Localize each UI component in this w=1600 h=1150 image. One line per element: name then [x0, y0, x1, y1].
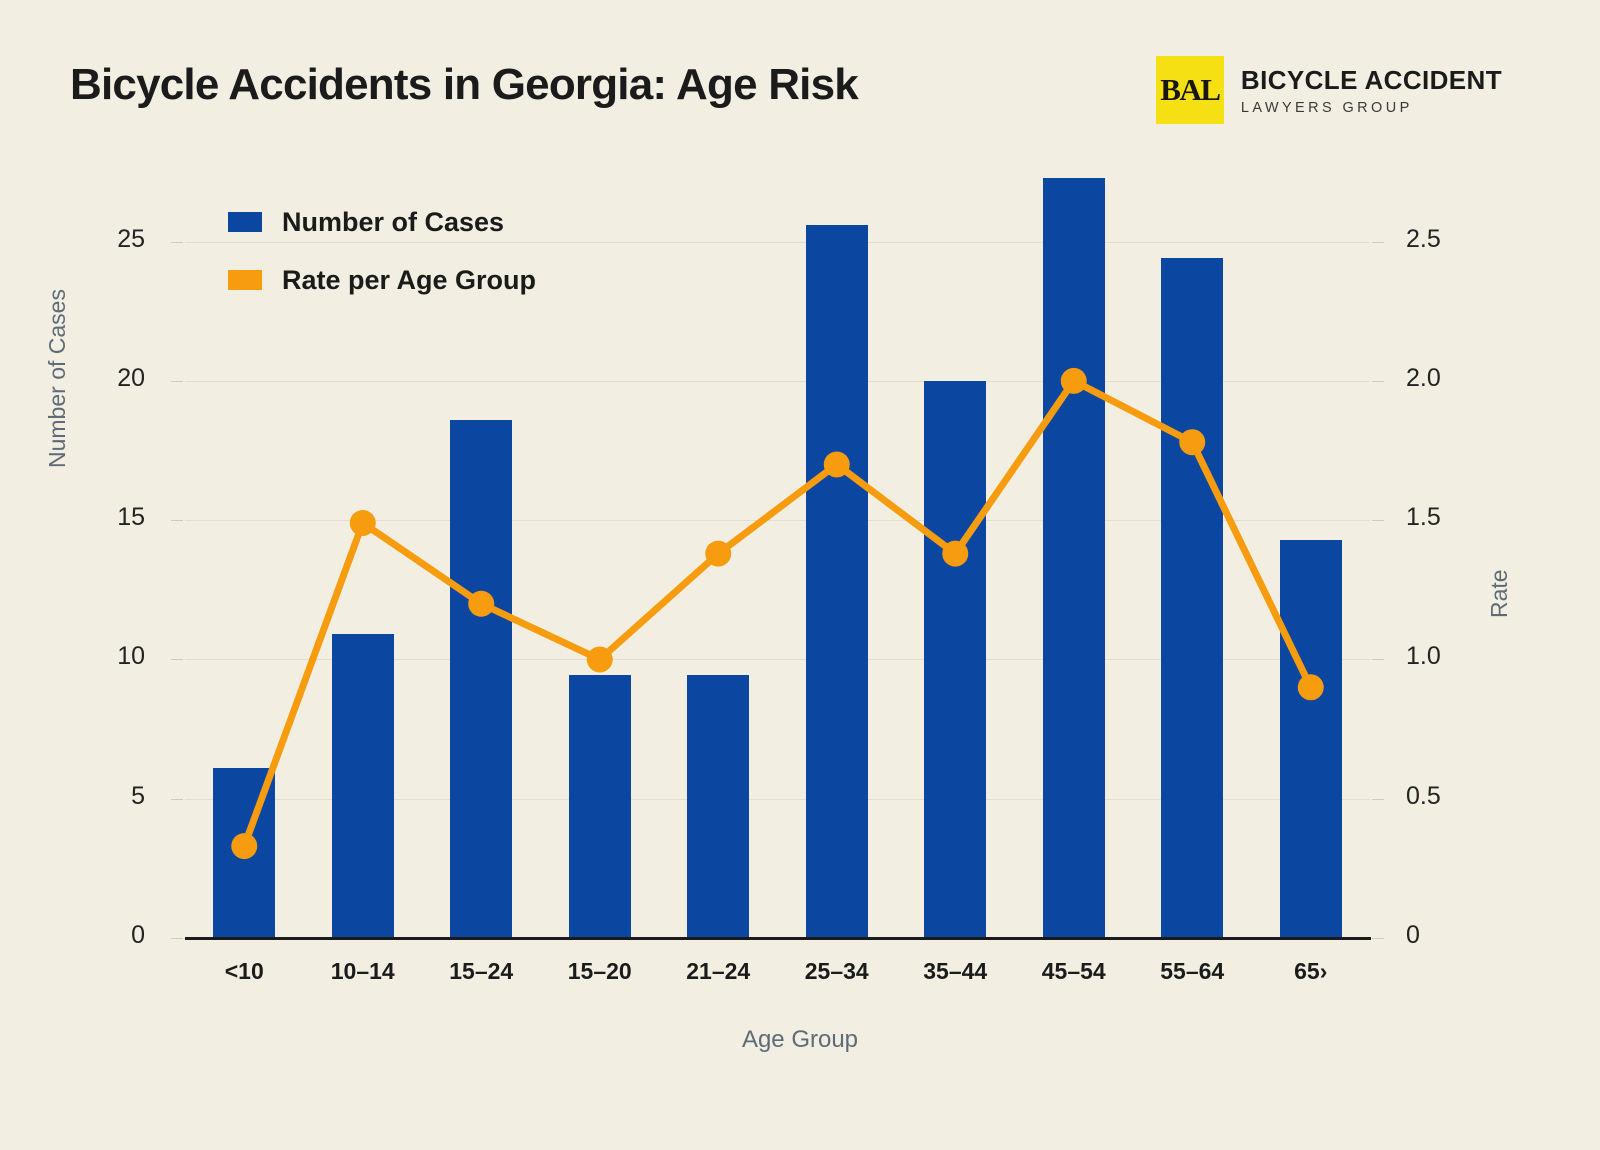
y-axis-right-tick-label: 2.5	[1406, 225, 1476, 254]
rate-line-marker[interactable]: 15–24: 1.2	[468, 591, 494, 617]
y-axis-right-tick-label: 0	[1406, 921, 1476, 950]
rate-line-path	[244, 381, 1311, 846]
x-axis-title: Age Group	[0, 1026, 1600, 1054]
y-axis-right-tick-mark	[1372, 938, 1384, 939]
legend-label-rate: Rate per Age Group	[282, 265, 536, 296]
y-axis-left-tick-mark	[171, 242, 183, 243]
y-axis-right-tick-label: 1.5	[1406, 503, 1476, 532]
y-axis-left-tick-mark	[171, 938, 183, 939]
logo-company-name: BICYCLE ACCIDENT	[1241, 65, 1502, 96]
y-axis-left-tick-label: 15	[85, 503, 145, 532]
legend-label-cases: Number of Cases	[282, 207, 504, 238]
chart-legend: Number of Cases Rate per Age Group	[228, 193, 536, 309]
logo-monogram: BAL	[1156, 72, 1224, 108]
y-axis-left-tick-mark	[171, 381, 183, 382]
x-axis-tick-label: <10	[185, 958, 303, 985]
x-axis-tick-label: 55–64	[1133, 958, 1251, 985]
rate-line-marker[interactable]: 55–64: 1.78	[1179, 429, 1205, 455]
x-axis-tick-label: 65›	[1252, 958, 1370, 985]
page-title: Bicycle Accidents in Georgia: Age Risk	[70, 60, 858, 110]
y-axis-left-tick-label: 5	[85, 782, 145, 811]
y-axis-left-tick-label: 0	[85, 921, 145, 950]
y-axis-left-tick-mark	[171, 799, 183, 800]
x-axis-tick-label: 21–24	[659, 958, 777, 985]
chart-header: Bicycle Accidents in Georgia: Age Risk B…	[0, 0, 1600, 150]
rate-line-marker[interactable]: 21–24: 1.38	[705, 541, 731, 567]
rate-line-marker[interactable]: 10–14: 1.49	[350, 510, 376, 536]
y-axis-right-tick-label: 2.0	[1406, 364, 1476, 393]
y-axis-left-tick-mark	[171, 659, 183, 660]
logo-text: BICYCLE ACCIDENT LAWYERS GROUP	[1241, 65, 1502, 116]
x-axis-tick-label: 15–24	[422, 958, 540, 985]
legend-swatch-cases	[228, 212, 262, 232]
logo-company-tagline: LAWYERS GROUP	[1241, 100, 1502, 116]
brand-logo[interactable]: BAL BICYCLE ACCIDENT LAWYERS GROUP	[1156, 56, 1502, 124]
rate-line-marker[interactable]: 25–34: 1.7	[824, 451, 850, 477]
x-axis-tick-label: 10–14	[304, 958, 422, 985]
x-axis-tick-label: 35–44	[896, 958, 1014, 985]
logo-mark-icon: BAL	[1156, 56, 1224, 124]
rate-line-marker[interactable]: 15–20: 1	[587, 646, 613, 672]
y-axis-right-tick-mark	[1372, 659, 1384, 660]
x-axis-tick-label: 15–20	[541, 958, 659, 985]
legend-item-rate[interactable]: Rate per Age Group	[228, 251, 536, 309]
x-axis-tick-label: 45–54	[1015, 958, 1133, 985]
legend-item-cases[interactable]: Number of Cases	[228, 193, 536, 251]
legend-swatch-rate	[228, 270, 262, 290]
y-axis-left-tick-label: 25	[85, 225, 145, 254]
y-axis-right-tick-mark	[1372, 799, 1384, 800]
rate-line-marker[interactable]: 35–44: 1.38	[942, 541, 968, 567]
y-axis-right-tick-mark	[1372, 242, 1384, 243]
y-axis-right-tick-label: 1.0	[1406, 642, 1476, 671]
rate-line-marker[interactable]: 65›: 0.9	[1298, 674, 1324, 700]
y-axis-right-tick-mark	[1372, 381, 1384, 382]
y-axis-left-tick-mark	[171, 520, 183, 521]
y-axis-right-title: Rate	[1486, 569, 1513, 618]
y-axis-left-tick-label: 20	[85, 364, 145, 393]
y-axis-left-tick-label: 10	[85, 642, 145, 671]
x-axis-line	[185, 937, 1371, 940]
rate-line-marker[interactable]: <10: 0.33	[231, 833, 257, 859]
x-axis-tick-label: 25–34	[778, 958, 896, 985]
y-axis-right-tick-label: 0.5	[1406, 782, 1476, 811]
rate-line-marker[interactable]: 45–54: 2	[1061, 368, 1087, 394]
y-axis-right-tick-mark	[1372, 520, 1384, 521]
y-axis-left-title: Number of Cases	[44, 428, 71, 468]
